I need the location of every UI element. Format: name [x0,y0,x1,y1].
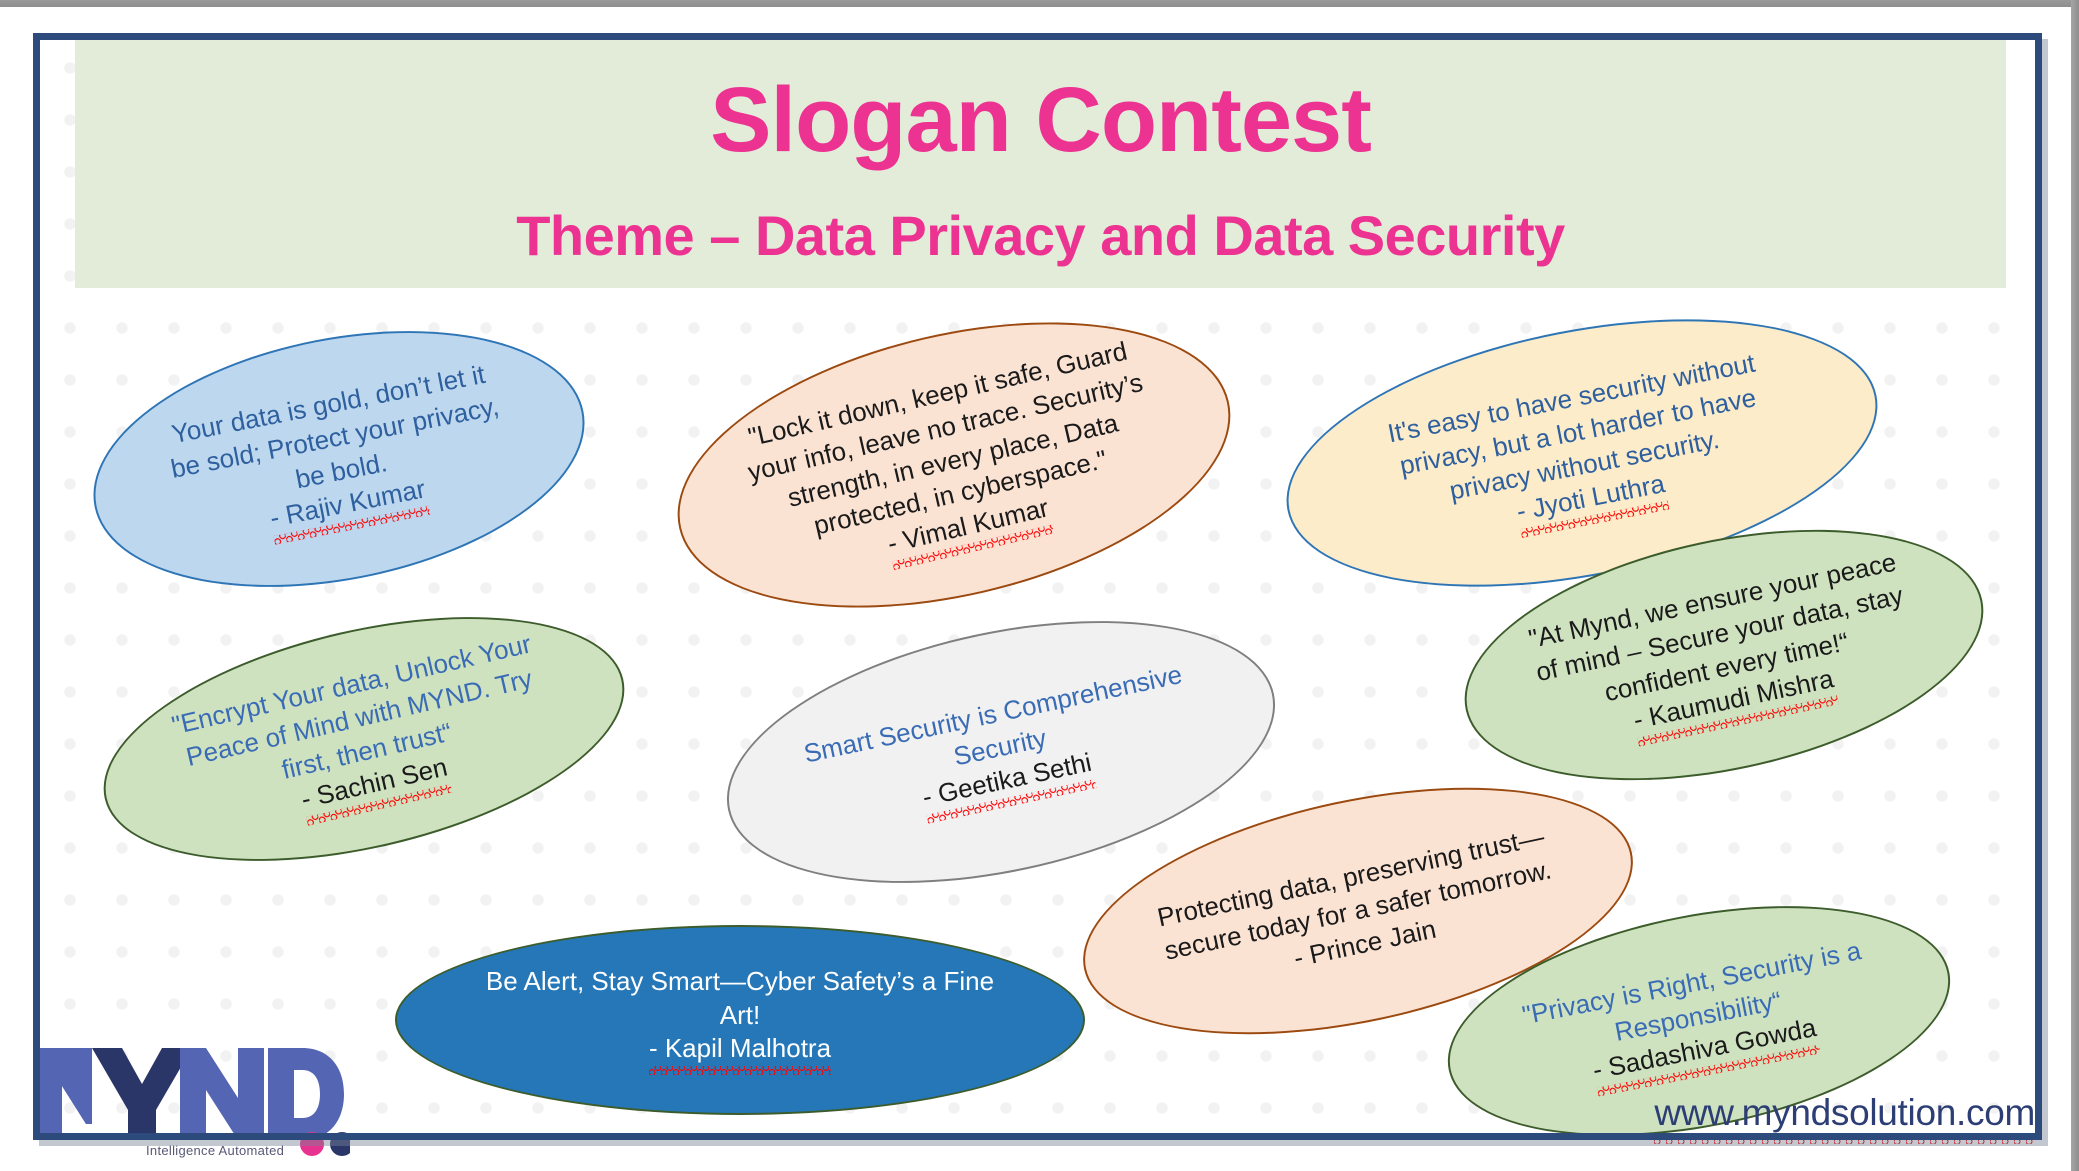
slogan-text-block: "Encrypt Your data, Unlock Your Peace of… [120,585,608,893]
window-chrome-right-scrollbar[interactable] [2071,0,2079,1171]
slogan-text-block: "Lock it down, keep it safe, Guard your … [686,290,1222,640]
slide-canvas: Slogan Contest Theme – Data Privacy and … [0,0,2079,1171]
slogan-ellipse-sachin-sen[interactable]: "Encrypt Your data, Unlock Your Peace of… [80,573,647,905]
slogan-text-block: Smart Security is Comprehensive Security… [750,616,1251,889]
page-subtitle: Theme – Data Privacy and Data Security [75,208,2006,264]
slogan-ellipse-vimal-kumar[interactable]: "Lock it down, keep it safe, Guard your … [650,274,1258,656]
page-title: Slogan Contest [75,74,2006,166]
slogan-quote: Be Alert, Stay Smart—Cyber Safety’s a Fi… [486,966,994,1030]
logo-tagline: Intelligence Automated [146,1143,284,1158]
footer-website-url[interactable]: www.myndsolution.com [1654,1092,2035,1144]
slogan-ellipse-rajiv-kumar[interactable]: Your data is gold, don’t let it be sold;… [71,293,606,626]
slogan-text-block: Be Alert, Stay Smart—Cyber Safety’s a Fi… [404,931,1077,1109]
slogan-author: - Kapil Malhotra [486,1032,994,1075]
header-band: Slogan Contest Theme – Data Privacy and … [75,40,2006,288]
slogan-text-block: Your data is gold, don’t let it be sold;… [116,316,561,603]
logo-dot-navy [330,1132,350,1156]
window-chrome-top [0,0,2079,7]
logo-dot-pink [300,1132,324,1156]
footer-url-text: www.myndsolution.com [1654,1092,2035,1144]
slogan-ellipse-kapil-malhotra[interactable]: Be Alert, Stay Smart—Cyber Safety’s a Fi… [395,925,1085,1115]
